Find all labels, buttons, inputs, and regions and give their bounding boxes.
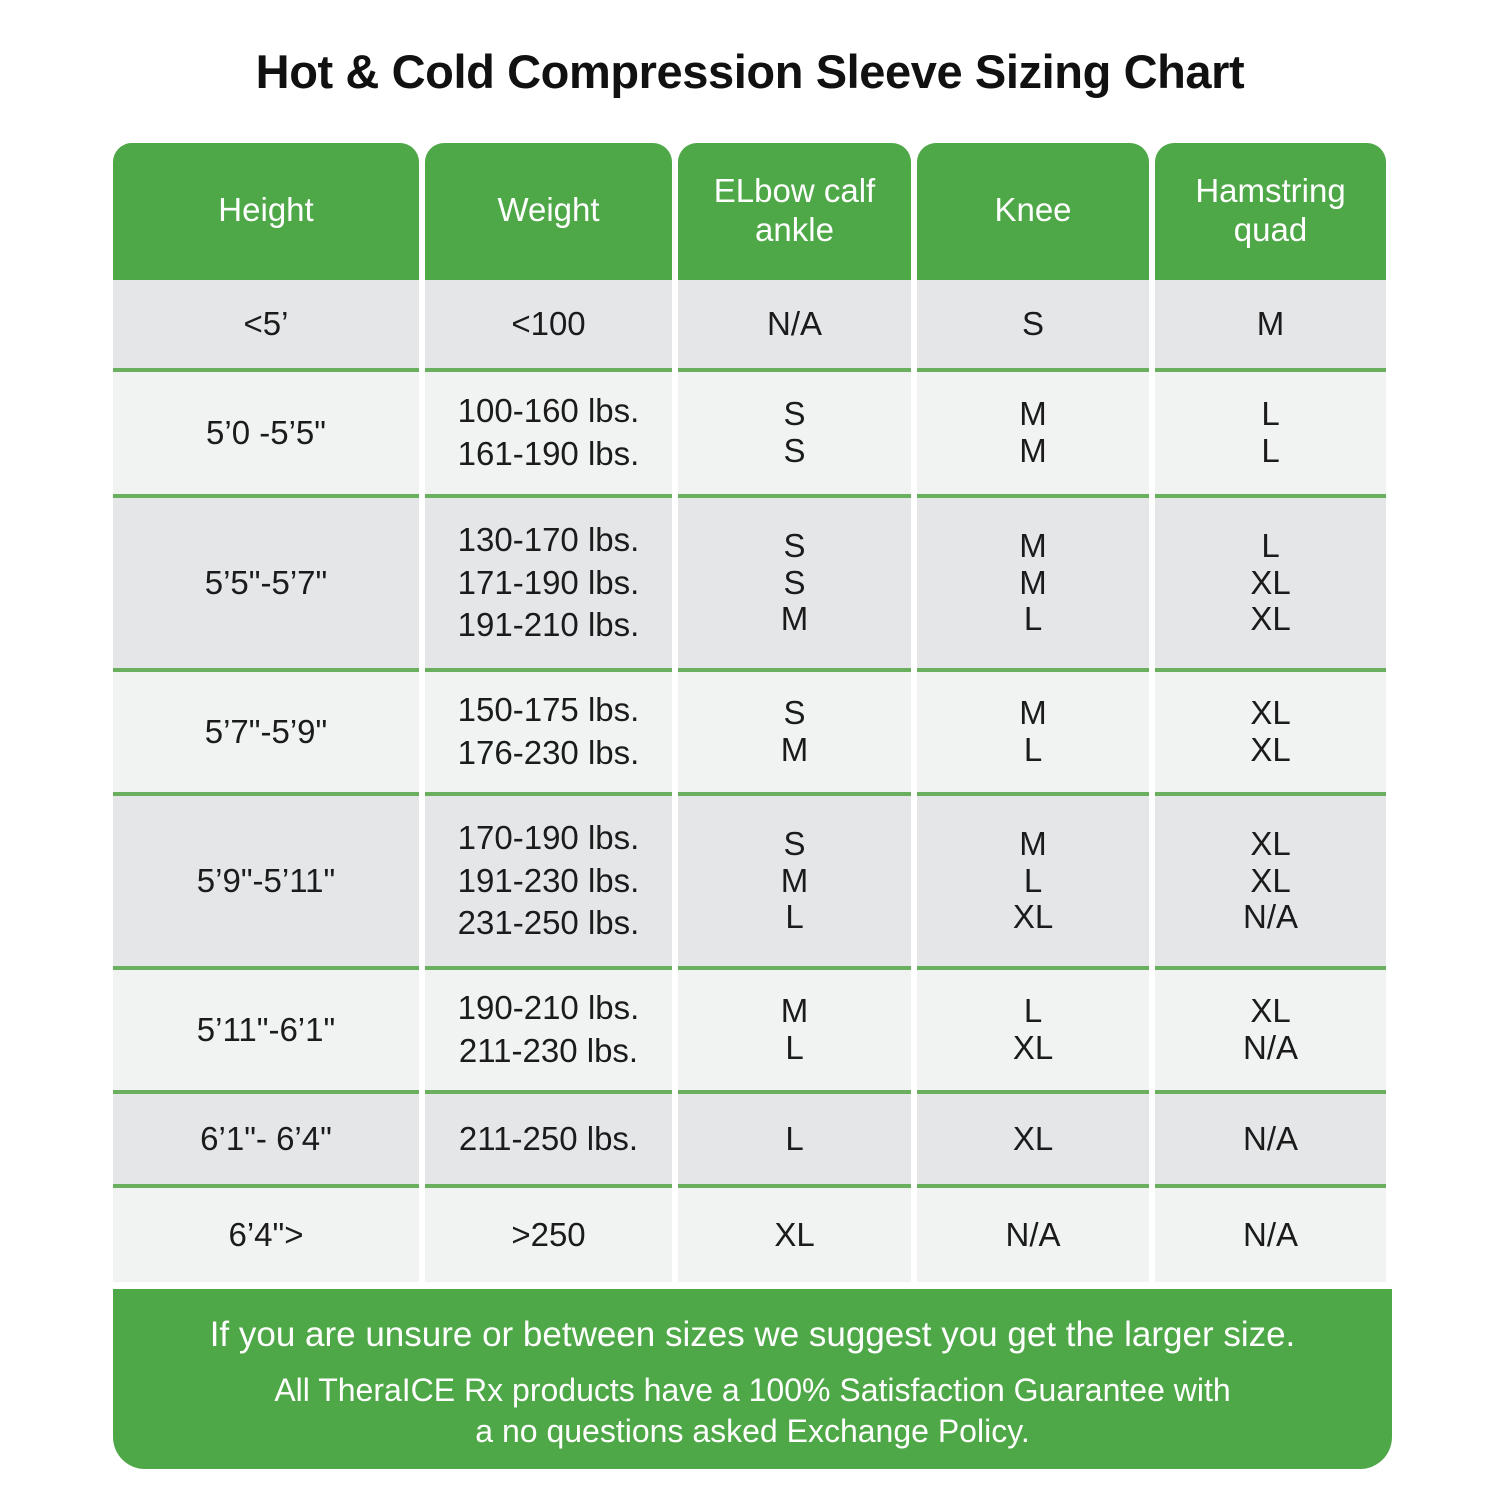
cell-text: XL: [1250, 863, 1290, 900]
footer-line-2: All TheraICE Rx products have a 100% Sat…: [274, 1370, 1230, 1412]
cell-text: 231-250 lbs.: [458, 902, 640, 945]
cell-text: S: [783, 528, 805, 565]
cell-text: 171-190 lbs.: [458, 562, 640, 605]
cell-height: 6’4">: [113, 1188, 419, 1282]
cell-text: >250: [511, 1214, 585, 1257]
cell-text: L: [1024, 732, 1042, 769]
cell-text: L: [1024, 993, 1042, 1030]
column-header-knee-label: Knee: [994, 191, 1071, 229]
cell-elbow: S M: [678, 672, 911, 792]
cell-height: <5’: [113, 280, 419, 368]
cell-text: M: [781, 601, 809, 638]
cell-height: 5’9"-5’11": [113, 796, 419, 966]
cell-text: 100-160 lbs.: [458, 390, 640, 433]
cell-text: M: [781, 863, 809, 900]
table-row: 5’7"-5’9" 150-175 lbs. 176-230 lbs. S M …: [113, 672, 1392, 792]
cell-text: 5’11"-6’1": [197, 1010, 335, 1050]
cell-text: M: [1019, 528, 1047, 565]
cell-hamstring: XL N/A: [1155, 970, 1386, 1090]
cell-text: XL: [1250, 601, 1290, 638]
cell-text: XL: [1250, 993, 1290, 1030]
table-row: 5’0 -5’5" 100-160 lbs. 161-190 lbs. S S …: [113, 372, 1392, 494]
cell-knee: S: [917, 280, 1149, 368]
page-title: Hot & Cold Compression Sleeve Sizing Cha…: [0, 44, 1500, 99]
cell-text: L: [785, 1030, 803, 1067]
cell-weight: 170-190 lbs. 191-230 lbs. 231-250 lbs.: [425, 796, 672, 966]
cell-weight: 130-170 lbs. 171-190 lbs. 191-210 lbs.: [425, 498, 672, 668]
cell-text: N/A: [1243, 1030, 1298, 1067]
cell-knee: XL: [917, 1094, 1149, 1184]
cell-elbow: M L: [678, 970, 911, 1090]
cell-text: M: [1019, 565, 1047, 602]
column-header-hamstring-label: Hamstring quad: [1155, 172, 1386, 249]
cell-text: S: [783, 695, 805, 732]
cell-elbow: XL: [678, 1188, 911, 1282]
column-header-elbow-line-2: calf: [824, 172, 875, 209]
footer-line-3: a no questions asked Exchange Policy.: [475, 1411, 1029, 1453]
cell-text: M: [781, 993, 809, 1030]
cell-hamstring: XL XL N/A: [1155, 796, 1386, 966]
cell-text: <5’: [244, 304, 289, 344]
cell-height: 5’0 -5’5": [113, 372, 419, 494]
column-header-elbow-label: ELbow calf ankle: [678, 172, 911, 249]
cell-text: N/A: [1243, 1217, 1298, 1254]
cell-text: N/A: [767, 306, 822, 343]
cell-knee: N/A: [917, 1188, 1149, 1282]
cell-text: S: [783, 565, 805, 602]
cell-hamstring: L XL XL: [1155, 498, 1386, 668]
cell-weight: 190-210 lbs. 211-230 lbs.: [425, 970, 672, 1090]
cell-text: 6’1"- 6’4": [200, 1119, 332, 1159]
cell-height: 5’5"-5’7": [113, 498, 419, 668]
cell-knee: M L: [917, 672, 1149, 792]
cell-text: N/A: [1243, 1121, 1298, 1158]
table-row: 5’5"-5’7" 130-170 lbs. 171-190 lbs. 191-…: [113, 498, 1392, 668]
cell-text: 170-190 lbs.: [458, 817, 640, 860]
cell-text: L: [785, 899, 803, 936]
cell-hamstring: L L: [1155, 372, 1386, 494]
cell-elbow: S S M: [678, 498, 911, 668]
cell-elbow: S S: [678, 372, 911, 494]
cell-text: 130-170 lbs.: [458, 519, 640, 562]
cell-knee: M M: [917, 372, 1149, 494]
cell-text: XL: [1250, 565, 1290, 602]
table-row: <5’ <100 N/A S M: [113, 280, 1392, 368]
cell-text: XL: [1250, 695, 1290, 732]
cell-text: M: [1019, 396, 1047, 433]
cell-height: 5’7"-5’9": [113, 672, 419, 792]
cell-text: XL: [774, 1217, 814, 1254]
column-header-height-label: Height: [218, 191, 313, 229]
sizing-table: Height Weight ELbow calf ankle Knee Hams…: [113, 143, 1392, 1282]
cell-knee: M L XL: [917, 796, 1149, 966]
cell-text: S: [1022, 306, 1044, 343]
cell-hamstring: N/A: [1155, 1094, 1386, 1184]
sizing-chart-page: Hot & Cold Compression Sleeve Sizing Cha…: [0, 0, 1500, 1500]
cell-elbow: N/A: [678, 280, 911, 368]
cell-weight: 211-250 lbs.: [425, 1094, 672, 1184]
cell-text: L: [785, 1121, 803, 1158]
column-header-weight: Weight: [425, 143, 672, 280]
cell-text: 5’5"-5’7": [205, 563, 328, 603]
cell-weight: <100: [425, 280, 672, 368]
cell-text: S: [783, 396, 805, 433]
cell-text: M: [1257, 306, 1285, 343]
cell-weight: >250: [425, 1188, 672, 1282]
table-header-row: Height Weight ELbow calf ankle Knee Hams…: [113, 143, 1392, 280]
cell-text: XL: [1250, 732, 1290, 769]
cell-text: XL: [1013, 1030, 1053, 1067]
cell-text: S: [783, 433, 805, 470]
cell-hamstring: M: [1155, 280, 1386, 368]
cell-text: L: [1261, 433, 1279, 470]
cell-text: 161-190 lbs.: [458, 433, 640, 476]
cell-text: N/A: [1005, 1217, 1060, 1254]
cell-text: XL: [1013, 899, 1053, 936]
footer-line-1: If you are unsure or between sizes we su…: [210, 1313, 1296, 1358]
cell-text: L: [1261, 528, 1279, 565]
column-header-weight-label: Weight: [497, 191, 599, 229]
cell-weight: 150-175 lbs. 176-230 lbs.: [425, 672, 672, 792]
cell-text: S: [783, 826, 805, 863]
cell-text: 6’4">: [228, 1215, 303, 1255]
cell-text: XL: [1013, 1121, 1053, 1158]
cell-text: M: [781, 732, 809, 769]
cell-hamstring: N/A: [1155, 1188, 1386, 1282]
cell-text: M: [1019, 433, 1047, 470]
cell-text: 191-230 lbs.: [458, 860, 640, 903]
cell-elbow: S M L: [678, 796, 911, 966]
cell-text: L: [1261, 396, 1279, 433]
column-header-knee: Knee: [917, 143, 1149, 280]
column-header-hamstring-line-1: Hamstring: [1195, 172, 1345, 209]
column-header-elbow: ELbow calf ankle: [678, 143, 911, 280]
cell-knee: M M L: [917, 498, 1149, 668]
cell-text: L: [1024, 863, 1042, 900]
cell-text: M: [1019, 826, 1047, 863]
column-header-hamstring: Hamstring quad: [1155, 143, 1386, 280]
table-row: 6’1"- 6’4" 211-250 lbs. L XL N/A: [113, 1094, 1392, 1184]
cell-text: L: [1024, 601, 1042, 638]
cell-elbow: L: [678, 1094, 911, 1184]
table-row: 5’9"-5’11" 170-190 lbs. 191-230 lbs. 231…: [113, 796, 1392, 966]
cell-text: M: [1019, 695, 1047, 732]
cell-knee: L XL: [917, 970, 1149, 1090]
cell-text: 211-230 lbs.: [459, 1030, 638, 1073]
cell-text: <100: [511, 303, 585, 346]
cell-text: 211-250 lbs.: [459, 1118, 638, 1161]
cell-height: 5’11"-6’1": [113, 970, 419, 1090]
cell-text: N/A: [1243, 899, 1298, 936]
cell-text: 150-175 lbs.: [458, 689, 640, 732]
cell-hamstring: XL XL: [1155, 672, 1386, 792]
cell-text: 5’0 -5’5": [206, 413, 326, 453]
cell-text: 176-230 lbs.: [458, 732, 640, 775]
cell-text: 190-210 lbs.: [458, 987, 640, 1030]
cell-height: 6’1"- 6’4": [113, 1094, 419, 1184]
cell-text: XL: [1250, 826, 1290, 863]
cell-text: 191-210 lbs.: [458, 604, 640, 647]
table-row: 6’4"> >250 XL N/A N/A: [113, 1188, 1392, 1282]
table-body: <5’ <100 N/A S M 5’0 -5’5": [113, 280, 1392, 1282]
table-row: 5’11"-6’1" 190-210 lbs. 211-230 lbs. M L…: [113, 970, 1392, 1090]
column-header-elbow-line-3: ankle: [755, 211, 834, 248]
cell-text: 5’7"-5’9": [205, 712, 328, 752]
column-header-height: Height: [113, 143, 419, 280]
column-header-elbow-line-1: ELbow: [714, 172, 815, 209]
footer-note: If you are unsure or between sizes we su…: [113, 1289, 1392, 1469]
cell-text: 5’9"-5’11": [197, 861, 335, 901]
cell-weight: 100-160 lbs. 161-190 lbs.: [425, 372, 672, 494]
column-header-hamstring-line-2: quad: [1234, 211, 1307, 248]
